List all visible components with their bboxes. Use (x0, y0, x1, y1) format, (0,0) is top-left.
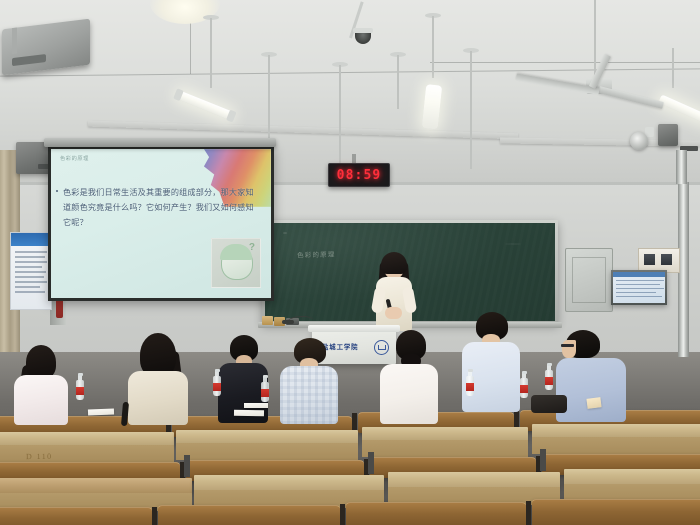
question-mark-icon: ? (249, 242, 255, 253)
wall-poster (10, 232, 52, 310)
digital-wall-clock: 08:59 (328, 163, 390, 187)
instructor-hair (381, 252, 407, 274)
paper-document (586, 397, 601, 409)
slide-thumbnail-illustration: ? (211, 238, 261, 288)
wall-pipe-upper (676, 150, 687, 184)
poster-header (11, 233, 51, 246)
paper-document (234, 410, 264, 417)
clock-time-display: 08:59 (337, 168, 382, 183)
student-light-blue-shirt (462, 312, 522, 412)
lamp-rod-6 (672, 48, 674, 88)
desk-surface (0, 478, 192, 494)
bench-front (0, 507, 152, 525)
bench-front (532, 499, 700, 525)
desk-leg (540, 449, 546, 471)
slide-bullet-marker (56, 190, 58, 192)
student-body (280, 366, 338, 424)
student-front-left (14, 345, 72, 425)
water-bottle (520, 370, 528, 398)
student-body (14, 375, 68, 425)
water-bottle (76, 372, 84, 400)
wall-device-box (658, 124, 678, 146)
bench-gap (152, 507, 157, 525)
water-bottle (545, 362, 553, 390)
desk-leg (368, 452, 374, 474)
desk-surface (176, 430, 358, 444)
water-bottle (466, 368, 474, 396)
student-body (380, 364, 438, 424)
student-white-blouse (380, 330, 440, 424)
student-front-left-2 (128, 333, 190, 425)
desk-surface (564, 469, 700, 485)
bench-gap (526, 501, 531, 525)
desk-leg (184, 455, 190, 477)
desk-front-panel (176, 443, 358, 460)
wall-info-display-screen (613, 272, 665, 303)
desk-surface (194, 475, 384, 491)
fan-rod-2 (594, 0, 596, 78)
instructor (370, 255, 418, 335)
desk-front-panel (532, 437, 700, 454)
fan-rod-1 (432, 16, 434, 78)
desk-surface (532, 424, 700, 438)
lamp-rod-1 (210, 18, 212, 88)
desk-front-panel (362, 440, 528, 457)
chalk-writing: 色彩的原理 (297, 248, 336, 259)
student-plaid-shirt (280, 338, 340, 424)
bench-gap (340, 504, 345, 525)
slide-title: 色彩的原理 (60, 155, 89, 162)
handbag (531, 395, 567, 413)
water-bottle (261, 374, 269, 402)
classroom-photo: 色彩的原理 色彩是我们日常生活及其重要的组成部分，那大家知道颜色究竟是什么吗？它… (0, 0, 700, 525)
desk-surface (362, 427, 528, 441)
water-bottle (213, 368, 221, 396)
paper-document (244, 403, 268, 408)
slide-body-text: 色彩是我们日常生活及其重要的组成部分，那大家知道颜色究竟是什么吗？它如何产生？我… (63, 185, 257, 230)
lamp-rod-3 (339, 65, 341, 165)
chalk-box (262, 316, 273, 325)
info-display-header (613, 272, 665, 277)
projection-screen-housing (44, 138, 276, 147)
paper-document (88, 409, 114, 416)
corner-security-camera (630, 132, 648, 150)
lamp-rod-5 (470, 51, 472, 169)
instructor-hands (385, 307, 402, 319)
student-body (556, 358, 626, 422)
cartoon-hair (220, 244, 252, 260)
projection-screen: 色彩的原理 色彩是我们日常生活及其重要的组成部分，那大家知道颜色究竟是什么吗？它… (48, 146, 274, 301)
slide: 色彩的原理 色彩是我们日常生活及其重要的组成部分，那大家知道颜色究竟是什么吗？它… (51, 149, 271, 298)
desk-surface (0, 432, 174, 446)
eyeglasses-icon (561, 344, 574, 347)
student-face-profile (562, 340, 576, 358)
bench-front (346, 502, 526, 525)
projector-mount (12, 28, 17, 55)
desk-room-label: D 110 (26, 452, 53, 461)
desk-surface (388, 472, 560, 488)
student-body (128, 371, 188, 425)
bench-front (158, 505, 340, 525)
wall-info-display (611, 270, 667, 305)
utility-cabinet (565, 248, 613, 312)
lamp-rod-4 (397, 55, 399, 109)
